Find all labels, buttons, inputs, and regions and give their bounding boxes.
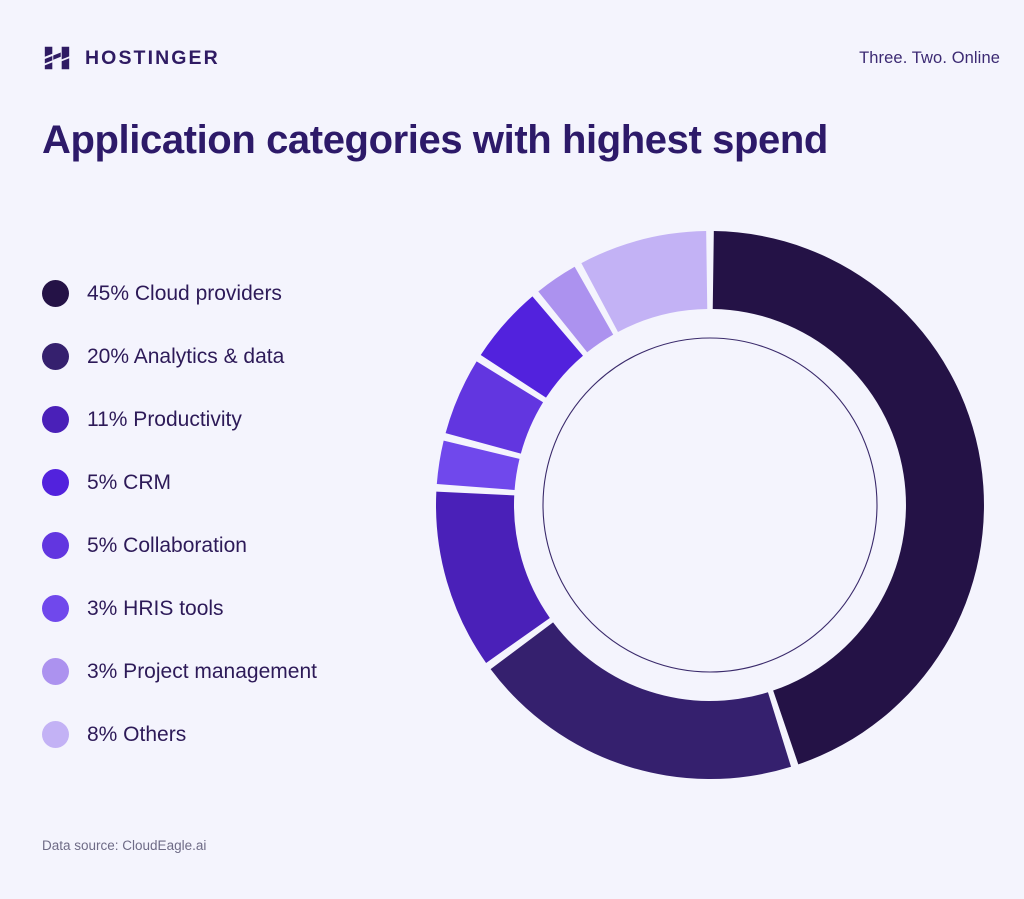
donut-segment <box>491 622 791 779</box>
data-source-note: Data source: CloudEagle.ai <box>42 838 206 853</box>
legend-color-swatch <box>42 721 69 748</box>
legend-item: 3% Project management <box>42 640 317 703</box>
legend-color-swatch <box>42 469 69 496</box>
legend-item: 3% HRIS tools <box>42 577 317 640</box>
brand-tagline: Three. Two. Online <box>859 49 1000 68</box>
brand-lockup: HOSTINGER <box>42 43 220 73</box>
legend-item-label: 8% Others <box>87 723 186 747</box>
legend-item-label: 11% Productivity <box>87 408 242 432</box>
legend-item: 5% CRM <box>42 451 317 514</box>
legend-color-swatch <box>42 280 69 307</box>
donut-segment <box>713 231 984 764</box>
legend-color-swatch <box>42 406 69 433</box>
legend-item-label: 45% Cloud providers <box>87 282 282 306</box>
donut-segment <box>436 492 550 663</box>
brand-name: HOSTINGER <box>85 47 220 70</box>
legend-color-swatch <box>42 343 69 370</box>
legend-item: 11% Productivity <box>42 388 317 451</box>
legend-item-label: 5% Collaboration <box>87 534 247 558</box>
donut-chart <box>420 215 1000 795</box>
legend-item: 45% Cloud providers <box>42 262 317 325</box>
legend-color-swatch <box>42 532 69 559</box>
inner-decorative-circle <box>543 338 877 672</box>
infographic-page: HOSTINGER Three. Two. Online Application… <box>0 0 1024 899</box>
hostinger-h-logo-icon <box>42 43 72 73</box>
legend-color-swatch <box>42 658 69 685</box>
legend-item-label: 5% CRM <box>87 471 171 495</box>
legend-item-label: 3% HRIS tools <box>87 597 224 621</box>
legend-item-label: 20% Analytics & data <box>87 345 284 369</box>
legend-item-label: 3% Project management <box>87 660 317 684</box>
page-title: Application categories with highest spen… <box>42 118 828 163</box>
legend-item: 5% Collaboration <box>42 514 317 577</box>
legend-item: 20% Analytics & data <box>42 325 317 388</box>
donut-segment-group <box>436 231 984 779</box>
chart-legend: 45% Cloud providers20% Analytics & data1… <box>42 262 317 766</box>
legend-color-swatch <box>42 595 69 622</box>
header: HOSTINGER Three. Two. Online <box>42 40 1000 76</box>
legend-item: 8% Others <box>42 703 317 766</box>
